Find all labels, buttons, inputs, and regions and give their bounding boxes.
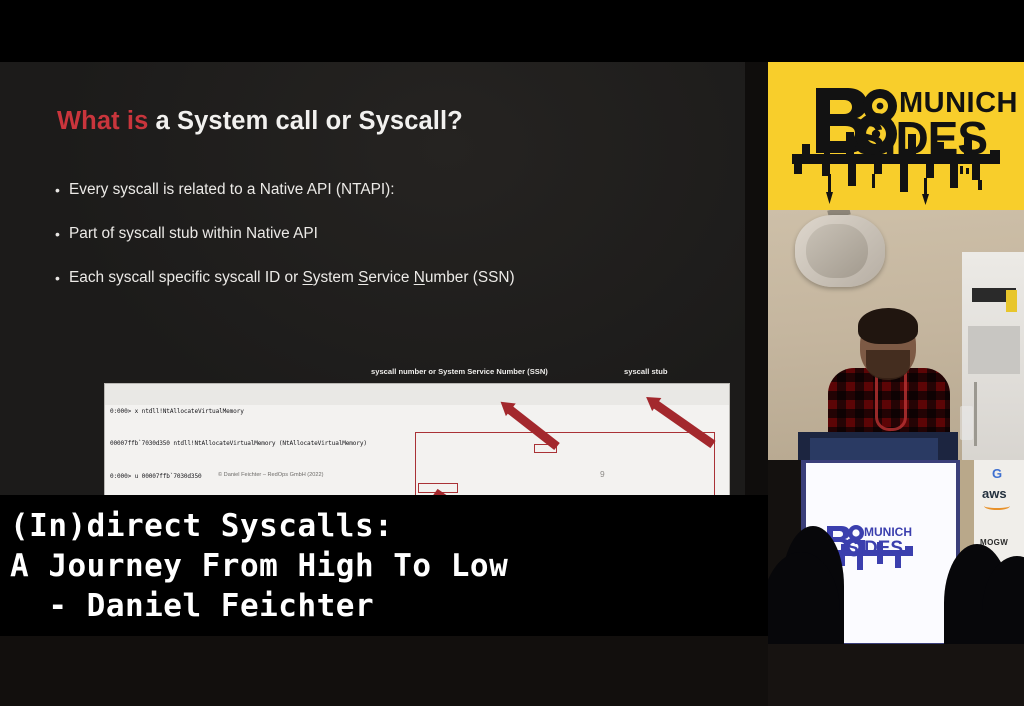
letterbox-bottom <box>0 636 768 706</box>
aws-swoosh-icon <box>984 502 1010 510</box>
banner-text-strip <box>974 382 977 446</box>
sponsor-google-logo: G <box>992 466 1002 481</box>
caption-line-3: - Daniel Feichter <box>10 586 768 626</box>
slide-page-number: 9 <box>600 469 605 479</box>
annotation-ssn: syscall number or System Service Number … <box>371 367 548 376</box>
bullet-text: Each syscall specific syscall ID or Syst… <box>69 270 515 287</box>
bullet-underline-s2: S <box>358 269 368 286</box>
bullet-item: • Each syscall specific syscall ID or Sy… <box>55 270 675 287</box>
presentation-slide: What is a System call or Syscall? • Ever… <box>0 62 745 495</box>
logo-sides-text: SIDES <box>854 112 987 164</box>
talk-title-caption: (In)direct Syscalls: A Journey From High… <box>0 495 768 636</box>
sponsor-aws-logo: aws <box>982 486 1007 501</box>
syscall-disassembly-figure: 0:000> x ntdll!NtAllocateVirtualMemory 0… <box>105 380 729 495</box>
bullet-text-post: umber (SSN) <box>425 269 515 286</box>
bullet-item: • Every syscall is related to a Native A… <box>55 182 675 199</box>
bullet-text-pre: Part of syscall stub within Native API <box>69 225 318 242</box>
banner-image <box>968 326 1020 374</box>
bullet-text-pre: Each syscall specific syscall ID or <box>69 269 303 286</box>
code-line: 0:000> x ntdll!NtAllocateVirtualMemory <box>110 407 727 418</box>
water-glass <box>960 406 973 440</box>
audience-video-feed: MUNICH SIDES G aws MOGW <box>768 460 1024 706</box>
wall-speaker <box>795 215 885 287</box>
letterbox-top <box>0 0 1024 62</box>
bullet-underline-n: N <box>414 269 425 286</box>
bullet-text-mid1: ystem <box>313 269 358 286</box>
highlight-box-syscall-stub <box>415 432 715 495</box>
code-screenshot: 0:000> x ntdll!NtAllocateVirtualMemory 0… <box>105 384 729 495</box>
caption-line-1: (In)direct Syscalls: <box>10 506 768 546</box>
speaker-video-feed <box>768 210 1024 460</box>
stream-composite: What is a System call or Syscall? • Ever… <box>0 0 1024 706</box>
slide-title: What is a System call or Syscall? <box>57 107 463 136</box>
bullet-marker: • <box>55 226 69 242</box>
code-addr: 0:000> x ntdll!NtAllocateVirtualMemory <box>110 407 296 418</box>
code-addr: 00007ffb`7030d350 ntdll!NtAllocateVirtua… <box>110 440 367 447</box>
audience-foreground-shadow <box>768 644 1024 706</box>
slide-title-highlight: What is <box>57 107 148 135</box>
bullet-text-pre: Every syscall is related to a Native API… <box>69 181 395 198</box>
bullet-marker: • <box>55 182 69 198</box>
speaker-hair <box>858 308 918 344</box>
letterbox-slide-right <box>745 62 768 495</box>
bullet-text: Part of syscall stub within Native API <box>69 226 318 243</box>
slide-bullet-list: • Every syscall is related to a Native A… <box>55 182 675 314</box>
slide-footer-copyright: © Daniel Feichter – RedOps GmbH (2022) <box>218 472 323 478</box>
bullet-underline-s1: S <box>303 269 313 286</box>
speaker-lanyard <box>875 372 907 431</box>
banner-accent <box>1006 290 1017 312</box>
bsides-munich-logo: MUNICH SIDES <box>768 62 1024 210</box>
code-addr: 0:000> u 00007ffb`7030d350 <box>110 473 202 480</box>
bullet-text: Every syscall is related to a Native API… <box>69 182 395 199</box>
projected-sides-text: SIDES <box>846 538 903 559</box>
bsides-munich-logo-panel: MUNICH SIDES <box>768 62 1024 210</box>
projected-munich-text: MUNICH <box>864 525 912 539</box>
annotation-stub: syscall stub <box>624 367 667 376</box>
caption-line-2: A Journey From High To Low <box>10 546 768 586</box>
speaker-beard <box>866 350 910 380</box>
bullet-item: • Part of syscall stub within Native API <box>55 226 675 243</box>
bullet-text-mid2: ervice <box>368 269 413 286</box>
slide-title-rest: a System call or Syscall? <box>148 107 462 135</box>
bullet-marker: • <box>55 270 69 286</box>
podium-with-laptop <box>798 432 958 460</box>
